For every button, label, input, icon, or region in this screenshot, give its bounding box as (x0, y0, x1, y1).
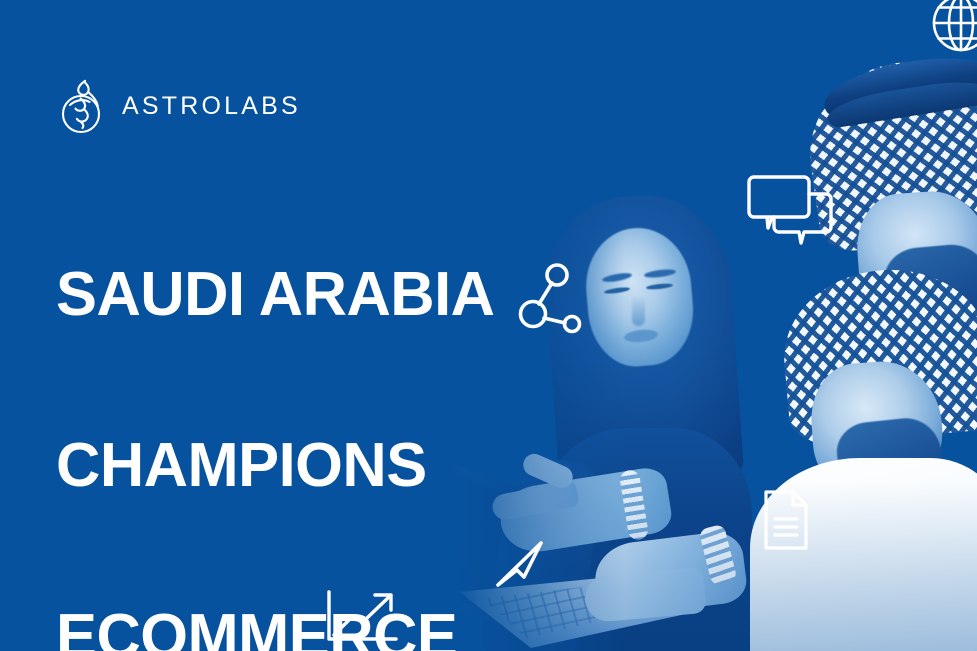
agal-cord-outer (820, 47, 977, 121)
share-network-icon (519, 262, 581, 334)
thumb (520, 450, 576, 491)
shoulder (532, 428, 752, 651)
nose (632, 296, 645, 326)
face (581, 224, 698, 371)
fingers (583, 567, 707, 623)
headline-line-2: CHAMPIONS (56, 437, 495, 494)
eyebrow-left (602, 271, 633, 283)
photo-typing-hand (585, 520, 775, 650)
chat-bubbles-icon (746, 172, 834, 248)
headline-line-3: ECOMMERCE (56, 608, 495, 651)
thobe-robe (750, 458, 977, 651)
neck-collar (896, 316, 977, 386)
cursor-arrow-icon (495, 540, 551, 592)
face-profile (808, 358, 947, 499)
index-finger (490, 480, 579, 522)
astrolabs-logo-icon (58, 78, 108, 134)
banner-canvas: ASTROLABS SAUDI ARABIA CHAMPIONS ECOMMER… (0, 0, 977, 651)
brand-lockup: ASTROLABS (58, 78, 301, 134)
document-icon (762, 489, 810, 551)
headline-line-1: SAUDI ARABIA (56, 266, 495, 323)
face-profile (854, 188, 977, 327)
wristwatch (698, 524, 737, 587)
page-title: SAUDI ARABIA CHAMPIONS ECOMMERCE (56, 152, 495, 651)
beard (834, 415, 946, 507)
lips (623, 328, 658, 343)
globe-icon (930, 0, 977, 54)
palm (591, 529, 749, 619)
photo-man-foreground (760, 270, 977, 651)
ghutra-headdress (777, 261, 977, 446)
eyebrow-right (644, 268, 677, 279)
bracelet (619, 469, 650, 541)
brand-wordmark: ASTROLABS (122, 94, 301, 119)
laptop-keyboard (472, 586, 642, 638)
agal-cord-inner (825, 75, 977, 129)
eye-right (646, 283, 673, 291)
beard (882, 242, 977, 339)
eye-left (604, 286, 630, 295)
hijab (540, 190, 745, 502)
